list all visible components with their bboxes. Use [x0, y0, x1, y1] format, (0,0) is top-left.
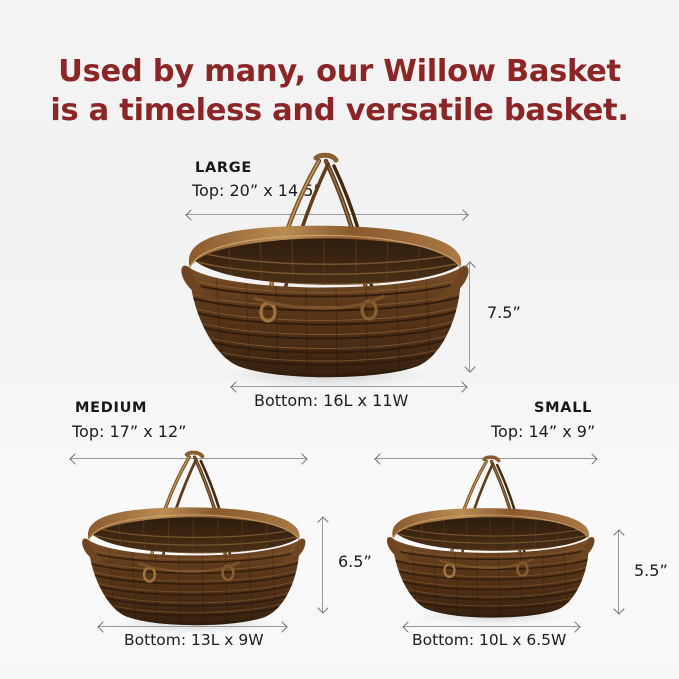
page-title: Used by many, our Willow Basket is a tim… — [0, 52, 679, 130]
size-label-medium: MEDIUM — [75, 400, 147, 416]
height-dimension-large: 7.5” — [487, 303, 521, 322]
bottom-dimension-large: Bottom: 16L x 11W — [254, 391, 408, 410]
top-dimension-small: Top: 14” x 9” — [491, 422, 595, 441]
height-dimension-small: 5.5” — [634, 561, 668, 580]
headline-line-1: Used by many, our Willow Basket — [58, 54, 621, 89]
headline-line-2: is a timeless and versatile basket. — [0, 91, 679, 130]
height-arrow-medium — [317, 517, 328, 613]
bottom-dimension-small: Bottom: 10L x 6.5W — [412, 631, 566, 649]
basket-image-medium — [60, 447, 326, 632]
bottom-dimension-medium: Bottom: 13L x 9W — [124, 631, 264, 649]
size-label-small: SMALL — [534, 400, 592, 416]
product-infographic: Used by many, our Willow Basket is a tim… — [0, 0, 679, 679]
basket-image-small — [370, 452, 610, 624]
basket-image-large — [168, 148, 480, 386]
top-dimension-medium: Top: 17” x 12” — [72, 422, 186, 441]
height-arrow-small — [613, 530, 624, 614]
height-dimension-medium: 6.5” — [338, 552, 372, 571]
height-arrow-large — [464, 262, 475, 372]
